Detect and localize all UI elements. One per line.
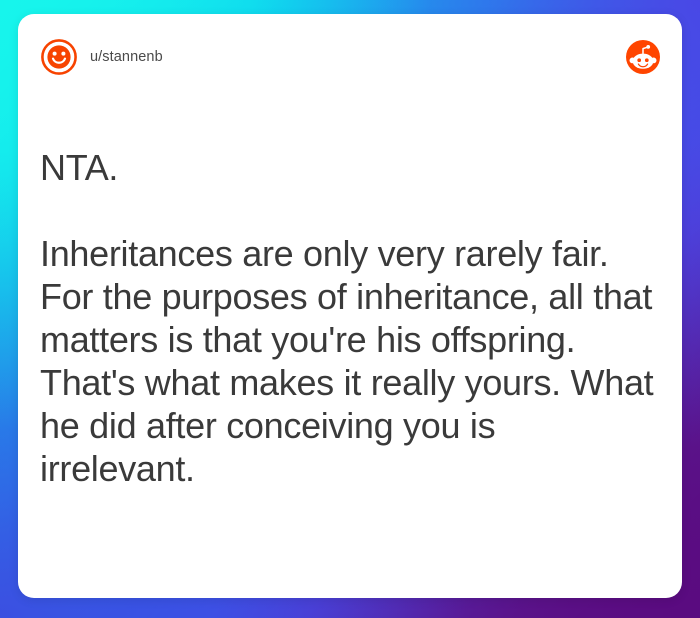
- smiley-face-avatar-icon[interactable]: [40, 38, 78, 76]
- card-body: NTA. Inheritances are only very rarely f…: [18, 100, 682, 598]
- reddit-snoo-logo-icon[interactable]: [626, 40, 660, 74]
- reddit-post-card: u/stannenb: [18, 14, 682, 598]
- screenshot-root: u/stannenb: [0, 0, 700, 618]
- post-text: NTA. Inheritances are only very rarely f…: [40, 146, 662, 490]
- username-label: u/stannenb: [90, 49, 163, 65]
- card-header: u/stannenb: [18, 14, 682, 100]
